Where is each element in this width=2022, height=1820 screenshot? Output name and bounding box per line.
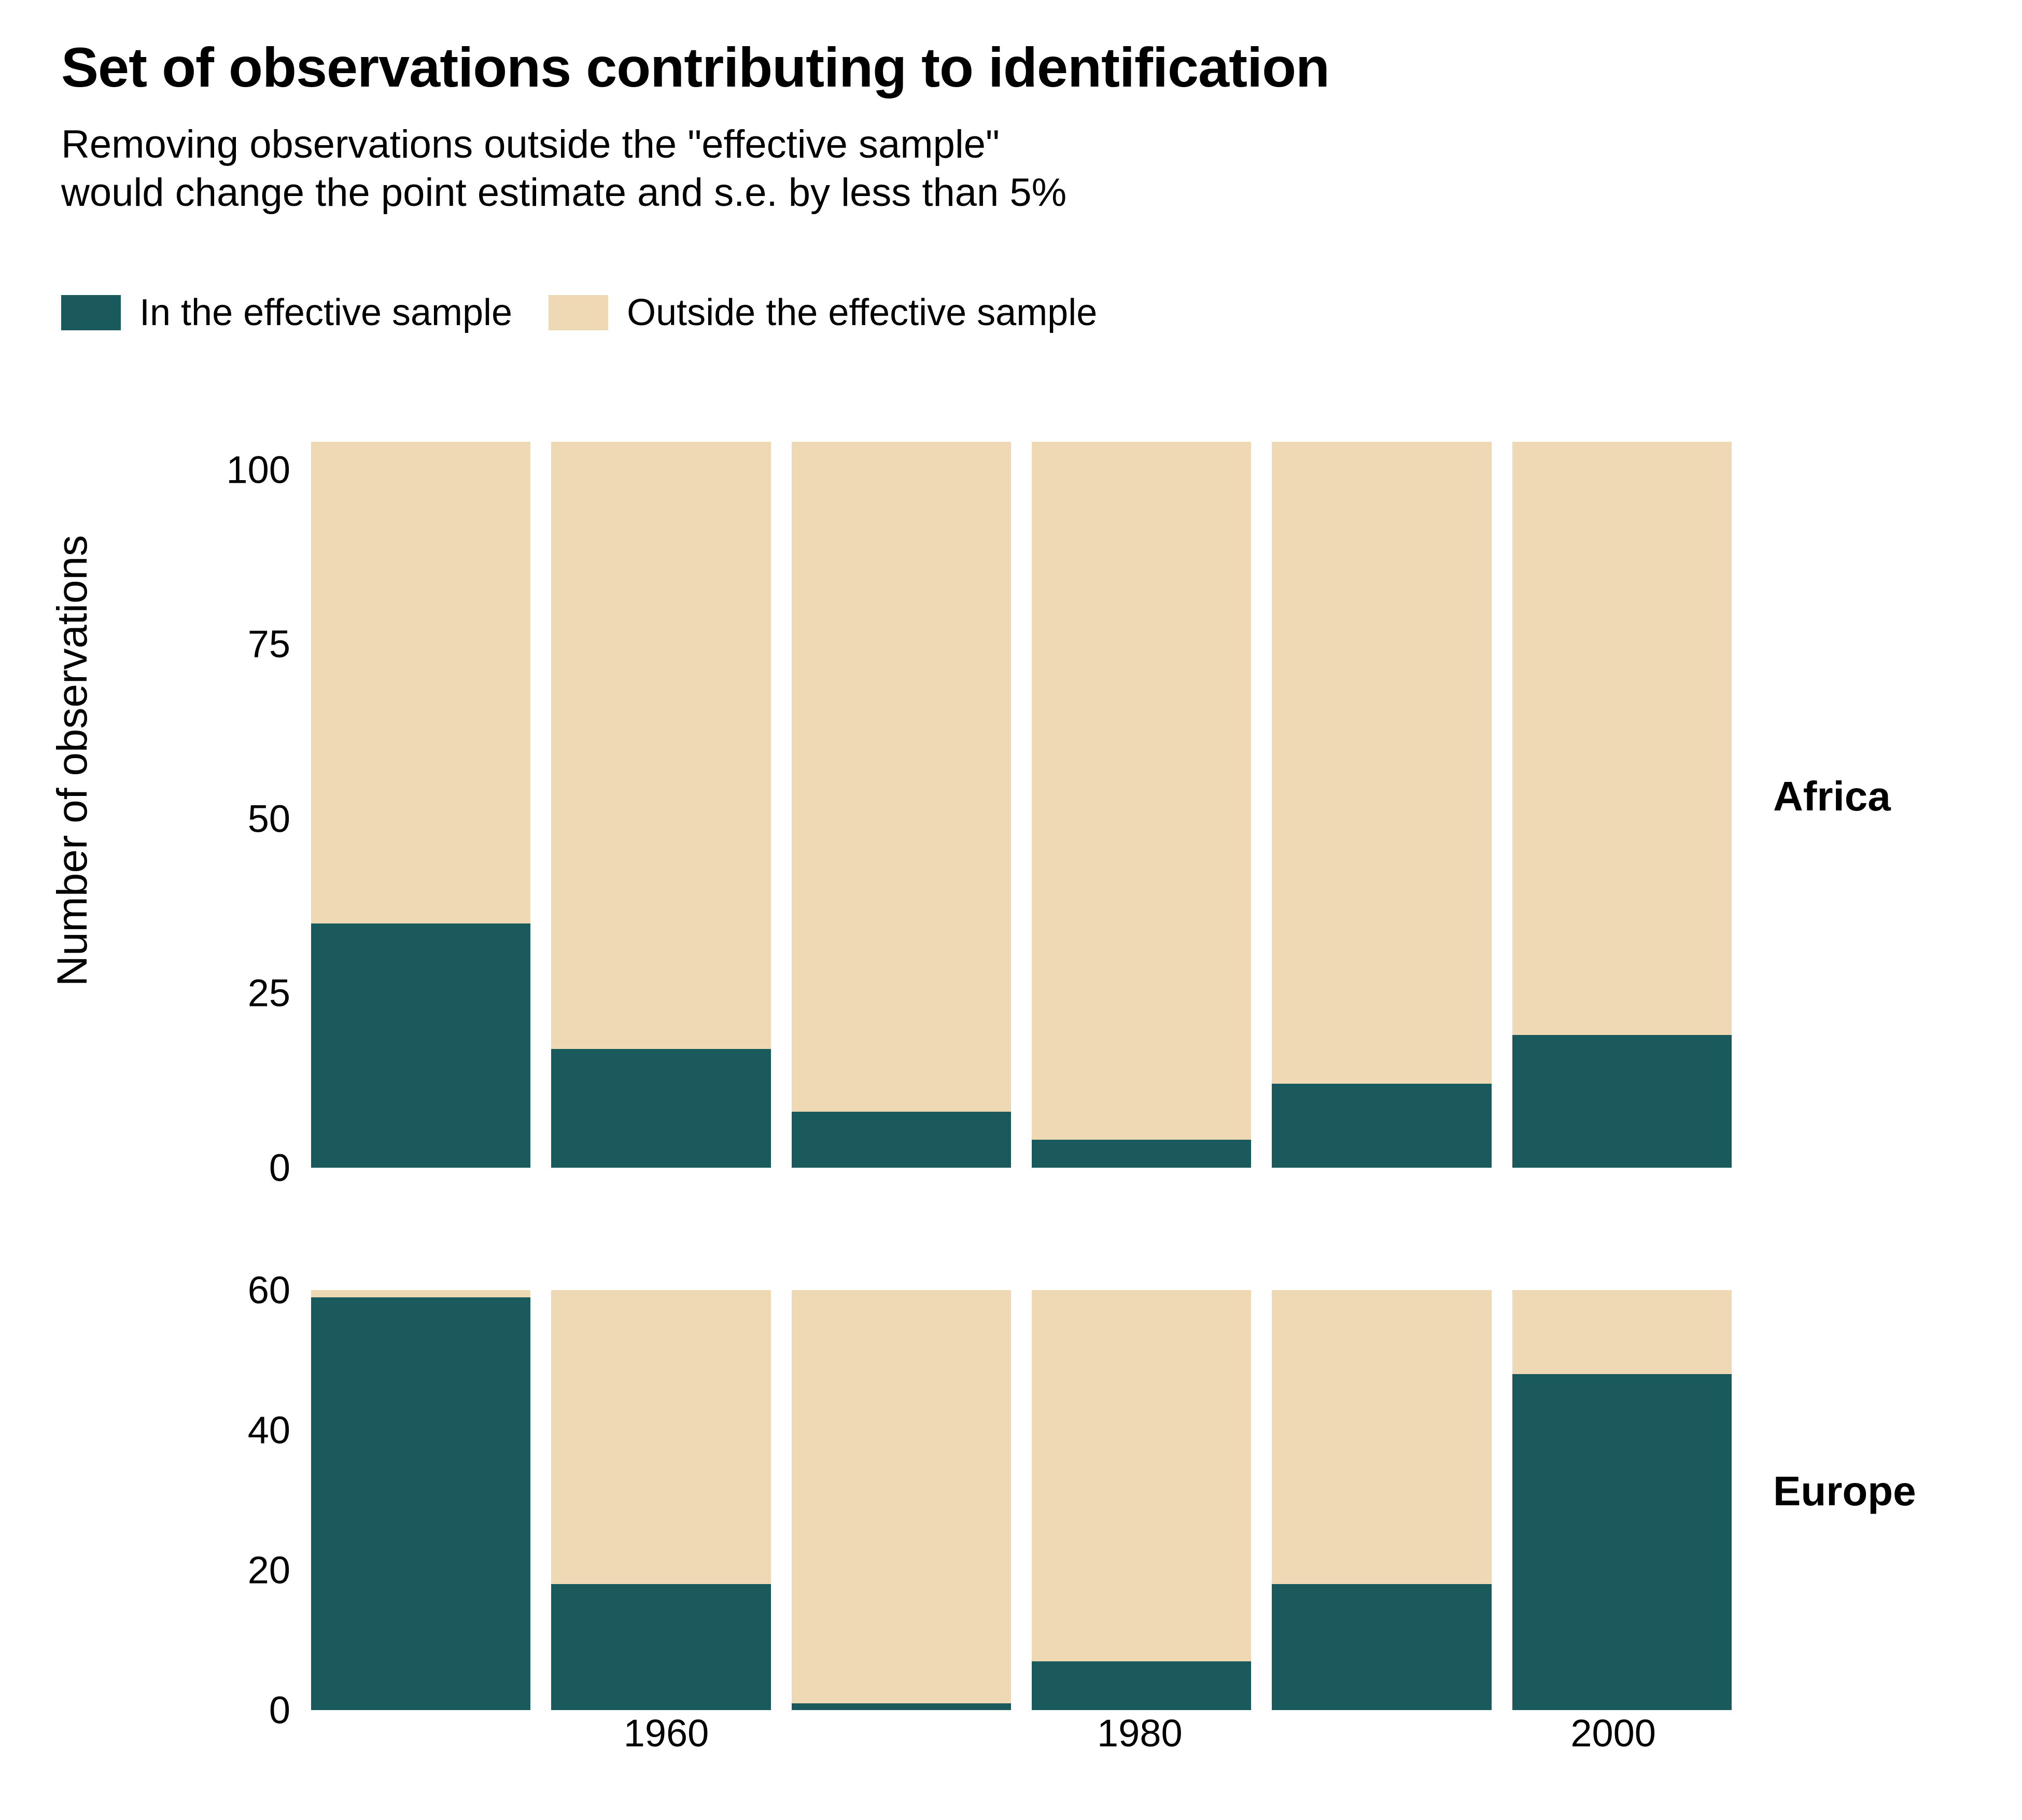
x-tick-label: 1980 (1097, 1711, 1183, 1755)
y-tick-label: 0 (73, 1688, 290, 1732)
bar-segment-in-sample[interactable] (551, 1049, 770, 1168)
bar-segment-in-sample[interactable] (792, 1112, 1011, 1168)
page-title: Set of observations contributing to iden… (61, 36, 1979, 99)
bar-segment-in-sample[interactable] (1512, 1035, 1732, 1168)
plot-area-africa (311, 442, 1732, 1168)
bar-segment-in-sample[interactable] (311, 1297, 530, 1711)
bar-segment-in-sample[interactable] (792, 1703, 1011, 1711)
bar-segment-outside-sample[interactable] (311, 442, 530, 923)
y-axis-ticks-europe: 0204060 (52, 1290, 290, 1710)
bar-segment-outside-sample[interactable] (792, 1290, 1011, 1703)
bar-stack[interactable] (311, 442, 530, 1168)
x-tick-label: 1960 (624, 1711, 709, 1755)
legend-item-out-sample[interactable]: Outside the effective sample (549, 291, 1133, 334)
strip-label-europe: Europe (1773, 1467, 1916, 1515)
bar-segment-outside-sample[interactable] (311, 1290, 530, 1297)
strip-label-africa: Africa (1773, 773, 1891, 820)
bar-segment-in-sample[interactable] (1512, 1374, 1732, 1710)
bar-segment-outside-sample[interactable] (1512, 442, 1732, 1035)
bar-group-africa (311, 442, 1732, 1168)
bar-stack[interactable] (311, 1290, 530, 1710)
bar-segment-outside-sample[interactable] (1032, 442, 1251, 1140)
bar-stack[interactable] (551, 1290, 770, 1710)
y-tick-label: 40 (73, 1408, 290, 1452)
bar-stack[interactable] (1272, 1290, 1491, 1710)
y-tick-label: 60 (73, 1268, 290, 1312)
legend-swatch-out-sample (549, 295, 608, 330)
y-tick-label: 0 (73, 1146, 290, 1190)
bar-stack[interactable] (1272, 442, 1491, 1168)
bar-stack[interactable] (792, 1290, 1011, 1710)
x-axis-ticks: 196019802000 (311, 1711, 1732, 1773)
chart-legend: In the effective sample Outside the effe… (61, 291, 1133, 334)
panel-europe: 0204060 Europe (0, 1265, 2022, 1711)
bar-stack[interactable] (1512, 442, 1732, 1168)
bar-segment-in-sample[interactable] (1272, 1584, 1491, 1710)
y-tick-label: 50 (73, 796, 290, 841)
y-tick-label: 100 (73, 447, 290, 492)
y-axis-ticks-africa: 0255075100 (52, 442, 290, 1168)
bar-segment-outside-sample[interactable] (1512, 1290, 1732, 1374)
legend-item-in-sample[interactable]: In the effective sample (61, 291, 549, 334)
x-tick-label: 2000 (1570, 1711, 1656, 1755)
bar-stack[interactable] (1512, 1290, 1732, 1710)
legend-label-out-sample: Outside the effective sample (627, 291, 1097, 334)
bar-segment-outside-sample[interactable] (1032, 1290, 1251, 1661)
chart-subtitle: Removing observations outside the "effec… (61, 121, 1979, 217)
plot-area-europe (311, 1290, 1732, 1710)
bar-segment-in-sample[interactable] (1032, 1661, 1251, 1711)
bar-segment-outside-sample[interactable] (1272, 1290, 1491, 1584)
bar-segment-in-sample[interactable] (1032, 1140, 1251, 1168)
y-tick-label: 20 (73, 1548, 290, 1592)
bar-segment-in-sample[interactable] (311, 923, 530, 1168)
bar-segment-in-sample[interactable] (1272, 1084, 1491, 1168)
bar-stack[interactable] (1032, 1290, 1251, 1710)
chart-header: Set of observations contributing to iden… (61, 36, 1979, 217)
legend-swatch-in-sample (61, 295, 121, 330)
legend-label-in-sample: In the effective sample (139, 291, 512, 334)
bar-segment-outside-sample[interactable] (792, 442, 1011, 1112)
bar-group-europe (311, 1290, 1732, 1710)
bar-stack[interactable] (792, 442, 1011, 1168)
bar-stack[interactable] (551, 442, 770, 1168)
bar-segment-outside-sample[interactable] (551, 442, 770, 1049)
y-tick-label: 75 (73, 622, 290, 666)
bar-stack[interactable] (1032, 442, 1251, 1168)
bar-segment-in-sample[interactable] (551, 1584, 770, 1710)
y-tick-label: 25 (73, 971, 290, 1015)
bar-segment-outside-sample[interactable] (1272, 442, 1491, 1084)
bar-segment-outside-sample[interactable] (551, 1290, 770, 1584)
panel-africa: 0255075100 Africa (0, 430, 2022, 1167)
